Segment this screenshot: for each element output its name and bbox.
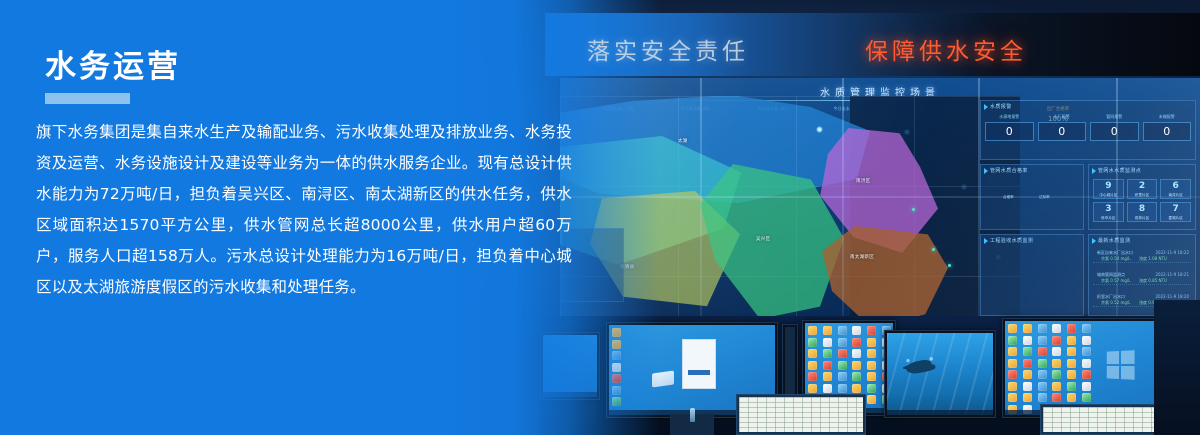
latest-time: 2022-11-9 18:22 <box>1156 250 1190 255</box>
point-value: 8 <box>1128 205 1157 214</box>
desktop-icon[interactable] <box>852 338 861 347</box>
desktop-icon[interactable] <box>867 372 876 381</box>
document-window[interactable] <box>682 339 716 389</box>
desktop-icon[interactable] <box>808 384 817 393</box>
point-label: 菱湖片区 <box>1161 216 1190 221</box>
desktop-icon[interactable] <box>1008 324 1017 333</box>
map-highlight-dot <box>816 126 823 133</box>
desktop-icon[interactable] <box>823 349 832 358</box>
wall-bezel <box>700 78 702 318</box>
point-value: 9 <box>1094 182 1123 191</box>
map-label-taihu: 太湖 <box>678 138 688 144</box>
desktop-icon[interactable] <box>1067 336 1076 345</box>
panel-rate-header: 管网水质合格率 <box>981 165 1083 174</box>
desktop-icon[interactable] <box>1023 370 1032 379</box>
desktop-icon[interactable] <box>1008 347 1017 356</box>
desktop-icon[interactable] <box>852 361 861 370</box>
desktop-icon[interactable] <box>838 372 847 381</box>
alarm-cells: 水源地报警 0 水厂报警 0 管网报警 0 末端报警 0 <box>985 114 1191 141</box>
alarm-label: 水厂报警 <box>1038 114 1087 120</box>
desktop-icon[interactable] <box>808 361 817 370</box>
monitor-point-cell: 8双林片区 <box>1127 202 1158 222</box>
alarm-cell: 末端报警 0 <box>1143 114 1192 141</box>
desktop-icon[interactable] <box>1038 336 1047 345</box>
alarm-value: 0 <box>1090 122 1139 141</box>
desktop-icon[interactable] <box>1067 347 1076 356</box>
desktop-icon[interactable] <box>838 338 847 347</box>
desktop-icon[interactable] <box>1008 370 1017 379</box>
laptop-spreadsheet-right <box>1040 404 1160 435</box>
description-paragraph: 旗下水务集团是集自来水生产及输配业务、污水收集处理及排放业务、水务投资及运营、水… <box>36 117 572 303</box>
desktop-icon[interactable] <box>867 361 876 370</box>
alarm-cell: 水源地报警 0 <box>985 114 1034 141</box>
desktop-icon[interactable] <box>1052 393 1061 402</box>
panel-water-quality-alarm: 水质报警 水源地报警 0 水厂报警 0 管网报警 0 末端报 <box>980 100 1196 160</box>
latest-row: 城南管网监测点 2022-11-9 18:21 余氯 0.57 mg/L 浊度 … <box>1093 271 1191 285</box>
desktop-icon[interactable] <box>1038 370 1047 379</box>
desktop-icon[interactable] <box>808 372 817 381</box>
panel-latest-header: 最新水质监测 <box>1089 235 1195 244</box>
alarm-value: 0 <box>985 122 1034 141</box>
latest-time: 2022-11-9 18:21 <box>1156 272 1190 277</box>
alarm-cell: 管网报警 0 <box>1090 114 1139 141</box>
desktop-icon[interactable] <box>838 326 847 335</box>
desktop-icon[interactable] <box>838 349 847 358</box>
desktop-icon[interactable] <box>838 361 847 370</box>
alarm-cell: 水厂报警 0 <box>1038 114 1087 141</box>
point-value: 6 <box>1161 182 1190 191</box>
desktop-icon[interactable] <box>852 349 861 358</box>
spreadsheet-screen[interactable] <box>739 397 863 432</box>
text-overlay-panel: 水务运营 旗下水务集团是集自来水生产及输配业务、污水收集处理及排放业务、水务投资… <box>0 0 660 435</box>
desktop-icon[interactable] <box>838 384 847 393</box>
desktop-icon[interactable] <box>1008 393 1017 402</box>
desktop-icon[interactable] <box>1038 393 1047 402</box>
alarm-label: 末端报警 <box>1143 114 1192 120</box>
desktop-icon[interactable] <box>1082 359 1091 368</box>
desktop-icon[interactable] <box>867 349 876 358</box>
map-label-nanxun: 南浔区 <box>856 178 870 184</box>
monitor-windows <box>1002 318 1162 418</box>
desktop-icon[interactable] <box>823 326 832 335</box>
panel-acceptance-monitoring: 工程验收水质监测 <box>980 234 1084 316</box>
desktop-icon[interactable] <box>1008 359 1017 368</box>
desktop-icon[interactable] <box>823 384 832 393</box>
desktop-icon[interactable] <box>1038 324 1047 333</box>
alarm-value: 0 <box>1143 122 1192 141</box>
latest-metric-2: 浊度 1.08 NTU <box>1139 256 1167 262</box>
monitor-point-cell: 7菱湖片区 <box>1160 202 1191 222</box>
wall-bezel <box>978 78 980 318</box>
desktop-icon[interactable] <box>1082 347 1091 356</box>
desktop-icon[interactable] <box>1082 324 1091 333</box>
desktop-icon[interactable] <box>1082 370 1091 379</box>
desktop-icon[interactable] <box>1023 382 1032 391</box>
desktop-icon[interactable] <box>1067 370 1076 379</box>
point-label: 练市片区 <box>1094 216 1123 221</box>
latest-row: 新区自来水厂出水口 2022-11-9 18:22 余氯 0.54 mg/L 浊… <box>1093 249 1191 263</box>
latest-time: 2022-11-9 18:20 <box>1156 294 1190 299</box>
desktop-icon[interactable] <box>867 338 876 347</box>
wall-bezel <box>842 78 844 318</box>
desktop-icon[interactable] <box>823 361 832 370</box>
alarm-label: 水源地报警 <box>985 114 1034 120</box>
slogan-right-text: 保障供水安全 <box>865 32 1027 66</box>
desktop-icon[interactable] <box>1082 336 1091 345</box>
taskbar <box>887 410 993 415</box>
monitor-point-cell: 3练市片区 <box>1093 202 1124 222</box>
alarm-value: 0 <box>1038 122 1087 141</box>
desktop-icon[interactable] <box>1082 393 1091 402</box>
desktop-icon[interactable] <box>1052 370 1061 379</box>
desktop-icon[interactable] <box>1008 382 1017 391</box>
windows-desktop-icons <box>1008 324 1094 414</box>
desktop-icon[interactable] <box>823 338 832 347</box>
water-bottle <box>690 408 695 422</box>
latest-metric-2: 浊度 0.85 NTU <box>1139 278 1167 284</box>
panel-points-header: 管网水水质监测点 <box>1089 165 1195 174</box>
monitor-windows-screen <box>1005 321 1159 415</box>
desktop-icon[interactable] <box>1023 324 1032 333</box>
laptop-spreadsheet <box>736 394 866 435</box>
panel-alarm-header: 水质报警 <box>981 101 1195 110</box>
desktop-icon[interactable] <box>852 326 861 335</box>
windows-logo-icon <box>1107 350 1135 379</box>
desktop-icon[interactable] <box>1067 359 1076 368</box>
side-wall-panel <box>1154 300 1200 435</box>
map-pin <box>912 208 915 211</box>
desktop-icon[interactable] <box>867 384 876 393</box>
monitor-dive-wallpaper <box>884 330 996 418</box>
desktop-icon[interactable] <box>852 384 861 393</box>
desktop-icon[interactable] <box>808 326 817 335</box>
desktop-icon[interactable] <box>1052 382 1061 391</box>
point-value: 7 <box>1161 205 1190 214</box>
desktop-icon[interactable] <box>1067 393 1076 402</box>
desktop-icon[interactable] <box>1052 324 1061 333</box>
title-underline-bar <box>45 93 130 104</box>
point-value: 2 <box>1128 182 1157 191</box>
panel-acceptance-header: 工程验收水质监测 <box>981 235 1083 244</box>
desktop-icon[interactable] <box>1038 347 1047 356</box>
desktop-icon[interactable] <box>823 372 832 381</box>
desktop-icon[interactable] <box>1023 393 1032 402</box>
map-label-wuxing: 吴兴区 <box>756 236 770 242</box>
desktop-icon[interactable] <box>1052 359 1061 368</box>
monitor-dive-screen <box>887 333 993 415</box>
map-pin <box>948 264 951 267</box>
desktop-icon[interactable] <box>1082 382 1091 391</box>
alarm-label: 管网报警 <box>1090 114 1139 120</box>
monitor-point-grid: 9中心城片区 2织里片区 6南浔片区 3练市片区 8双林片区 7菱湖片区 <box>1093 179 1191 222</box>
desktop-icon[interactable] <box>1067 324 1076 333</box>
hero-banner: 落实安全责任 保障供水安全 水质管理监控场景 今日取水量 (万吨) 今日供水量 … <box>0 0 1200 435</box>
desktop-icon[interactable] <box>1023 336 1032 345</box>
desktop-icon[interactable] <box>808 338 817 347</box>
desktop-icon[interactable] <box>1038 359 1047 368</box>
desktop-icon[interactable] <box>1008 336 1017 345</box>
desktop-icon[interactable] <box>1067 382 1076 391</box>
desktop-icon[interactable] <box>852 372 861 381</box>
map-label-nantaihu: 南太湖新区 <box>850 254 874 260</box>
desktop-icon[interactable] <box>1023 347 1032 356</box>
desktop-icon[interactable] <box>1052 336 1061 345</box>
point-label: 双林片区 <box>1128 216 1157 221</box>
desktop-icon[interactable] <box>867 395 876 404</box>
desktop-icon[interactable] <box>808 349 817 358</box>
desktop-icon[interactable] <box>1023 359 1032 368</box>
point-value: 3 <box>1094 205 1123 214</box>
desktop-icon[interactable] <box>867 326 876 335</box>
spreadsheet-screen[interactable] <box>1043 407 1157 432</box>
map-pin <box>932 248 935 251</box>
wall-bezel <box>1116 78 1118 318</box>
desktop-icon[interactable] <box>1038 382 1047 391</box>
desktop-icon[interactable] <box>1052 347 1061 356</box>
slogan-left-text: 落实安全责任 <box>587 32 749 66</box>
page-title: 水务运营 <box>45 50 181 84</box>
